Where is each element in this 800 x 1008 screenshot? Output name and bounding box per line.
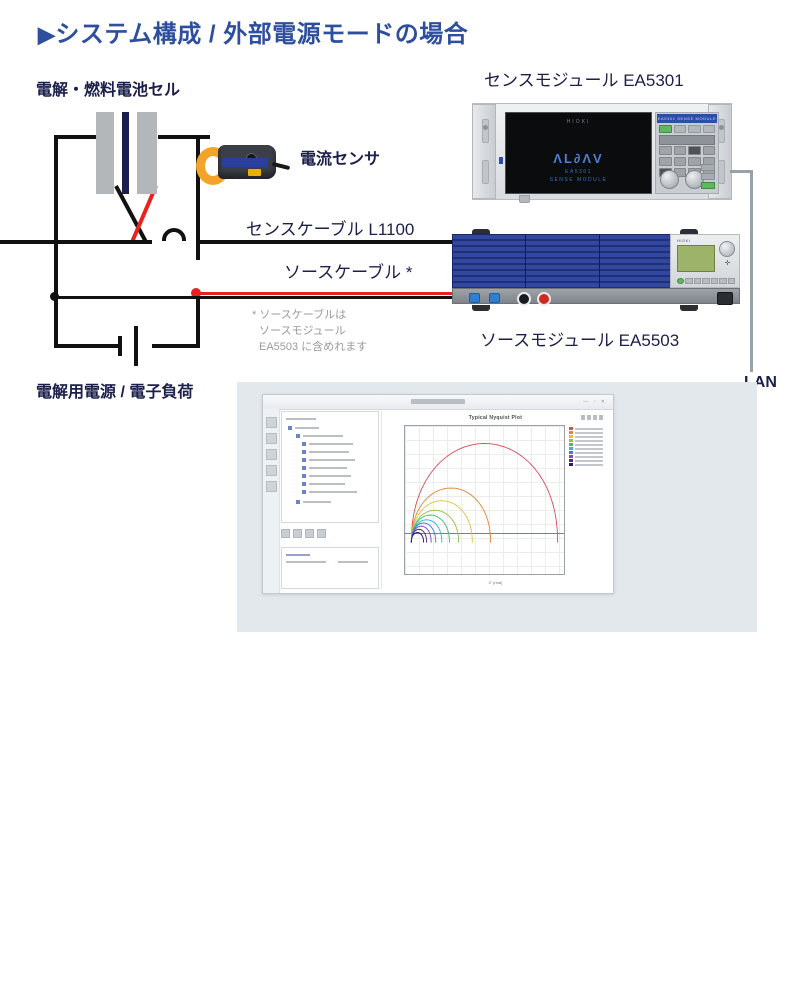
display-logo: ΛL∂ΛV (506, 151, 651, 166)
rack-slot-bottom (482, 160, 489, 184)
ea5503-key[interactable] (711, 278, 718, 284)
legend-swatch (569, 463, 573, 466)
app-tool-rail[interactable] (263, 409, 280, 593)
footnote-line-2: ソースモジュール (252, 324, 367, 340)
display-model: EA5301 (506, 169, 651, 177)
legend-row (569, 431, 603, 434)
tree-row (309, 475, 351, 477)
label-source-module: ソースモジュール EA5503 (480, 326, 679, 351)
footnote-line-3: EA5503 に含めれます (252, 340, 367, 356)
terminal-sense-plus[interactable] (469, 293, 480, 303)
rack-slot-top (482, 119, 489, 143)
legend-swatch (569, 447, 573, 450)
chart-traces (405, 426, 564, 585)
tree-node-icon[interactable] (302, 442, 306, 446)
legend-row (569, 443, 603, 446)
cell-plate-right (137, 112, 157, 194)
legend-label (575, 444, 603, 446)
legend-label (575, 452, 603, 454)
device-ea5503: HIOKI ✛ (452, 234, 740, 306)
soft-key-1[interactable] (659, 125, 672, 133)
grille-divider-1 (525, 235, 526, 289)
wire-batt-left-v (54, 296, 58, 348)
legend-label (575, 464, 603, 466)
soft-key-3[interactable] (688, 125, 701, 133)
wire-sense-right (196, 240, 452, 244)
rail-icon-4[interactable] (266, 465, 277, 476)
wire-sense-left (0, 240, 152, 244)
tree-node-icon[interactable] (302, 490, 306, 494)
tree-row (309, 451, 349, 453)
prop-row (338, 561, 368, 563)
rotary-knob-left[interactable] (660, 170, 679, 189)
legend-swatch (569, 439, 573, 442)
battery-long-plate (134, 326, 138, 366)
label-sense-module: センスモジュール EA5301 (484, 66, 684, 91)
panel-header-text: EA5301 SENSE MODULE (657, 114, 717, 123)
cell-plate-left (96, 112, 114, 194)
tree-row (303, 501, 331, 503)
legend-row (569, 459, 603, 462)
ea5503-key[interactable] (728, 278, 735, 284)
ea5301-display: HIOKI ΛL∂ΛV EA5301 SENSE MODULE (505, 112, 652, 194)
chart-icon-pan[interactable] (587, 415, 591, 420)
legend-row (569, 447, 603, 450)
legend-swatch (569, 435, 573, 438)
chart-icon-config[interactable] (599, 415, 603, 420)
ea5503-dpad-icon[interactable]: ✛ (722, 258, 733, 269)
terminal-sense-minus[interactable] (489, 293, 500, 303)
chart-legend[interactable] (569, 427, 603, 467)
soft-key-4[interactable] (703, 125, 716, 133)
keypad-key[interactable] (659, 146, 672, 155)
side-key-2[interactable] (701, 173, 715, 180)
label-sense-cable: センスケーブル L1100 (246, 215, 414, 240)
legend-row (569, 427, 603, 430)
battery-short-plate (118, 336, 122, 356)
prop-row (286, 561, 326, 563)
side-key-1[interactable] (701, 164, 715, 171)
panel-soft-keys[interactable] (659, 125, 715, 133)
ea5503-foot-left (472, 305, 490, 311)
clamp-body (218, 145, 276, 179)
label-fuel-cell: 電解・燃料電池セル (36, 76, 180, 100)
clamp-knob-icon (246, 153, 257, 164)
nyquist-chart: Typical Nyquist Plot Z' (real) (381, 411, 609, 589)
display-subtitle: EA5301 SENSE MODULE (506, 169, 651, 184)
rack-screw-top-right-icon (719, 125, 724, 130)
tree-node-icon[interactable] (302, 482, 306, 486)
rack-screw-top-icon (483, 125, 488, 130)
cell-membrane (122, 112, 129, 194)
rail-icon-3[interactable] (266, 449, 277, 460)
tree-tool-remove[interactable] (293, 529, 302, 538)
ea5503-control-panel: HIOKI ✛ (670, 234, 740, 288)
chart-plot-area (404, 425, 565, 575)
ea5301-control-panel: EA5301 SENSE MODULE (655, 112, 719, 194)
ea5503-rotary-knob[interactable] (719, 241, 735, 257)
diagram-canvas: ▶システム構成 / 外部電源モードの場合 電解・燃料電池セル 電解用電源 / 電… (0, 0, 800, 640)
ea5503-key[interactable] (719, 278, 726, 284)
chart-title: Typical Nyquist Plot (382, 415, 609, 421)
terminal-output-red[interactable] (537, 292, 551, 306)
tree-row (309, 459, 355, 461)
tree-row (309, 467, 347, 469)
keypad-key[interactable] (688, 157, 701, 166)
app-measurement-tree[interactable] (281, 411, 379, 523)
tree-node-icon[interactable] (288, 426, 292, 430)
app-title-placeholder (411, 399, 465, 404)
label-source-cable: ソースケーブル * (284, 258, 412, 283)
chart-icon-zoom[interactable] (581, 415, 585, 420)
software-panel-backdrop: — ▫ ✕ (237, 382, 757, 632)
clamp-current-sensor (196, 142, 282, 190)
ea5301-front-port[interactable] (499, 157, 503, 164)
page-title: ▶システム構成 / 外部電源モードの場合 (38, 14, 468, 49)
legend-label (575, 440, 603, 442)
side-key-start[interactable] (701, 182, 715, 189)
legend-label (575, 428, 603, 430)
tree-tool-copy[interactable] (305, 529, 314, 538)
page-title-text: システム構成 / 外部電源モードの場合 (55, 21, 468, 48)
legend-row (569, 451, 603, 454)
tree-node-icon[interactable] (302, 474, 306, 478)
wire-batt-left-h (54, 344, 120, 348)
legend-swatch (569, 455, 573, 458)
terminal-output-black[interactable] (517, 292, 531, 306)
rail-icon-5[interactable] (266, 481, 277, 492)
display-module-kind: SENSE MODULE (506, 177, 651, 185)
ea5503-front-grille (452, 234, 672, 290)
footnote-line-1: * ソースケーブルは (252, 308, 367, 324)
tree-node-icon[interactable] (302, 466, 306, 470)
ea5503-key[interactable] (694, 278, 701, 284)
legend-swatch (569, 427, 573, 430)
wire-batt-right-v (196, 296, 200, 348)
ea5503-foot-right (680, 305, 698, 311)
wire-cell-right (158, 135, 210, 139)
legend-label (575, 456, 603, 458)
tree-row (309, 443, 353, 445)
tree-node-icon[interactable] (296, 500, 300, 504)
wire-return-black (54, 296, 456, 299)
label-current-sensor: 電流センサ (300, 145, 380, 169)
tree-row (286, 418, 316, 420)
panel-status-strip (659, 135, 715, 145)
wire-left-bus (54, 135, 58, 300)
tree-row (309, 483, 345, 485)
triangle-bullet-icon: ▶ (38, 22, 55, 47)
ea5503-power-switch[interactable] (717, 292, 733, 305)
chart-icon-save[interactable] (593, 415, 597, 420)
grille-divider-2 (599, 235, 600, 289)
prop-row (286, 554, 310, 556)
app-properties-pane[interactable] (281, 547, 379, 589)
panel-knobs[interactable] (660, 170, 704, 189)
ea5503-terminal-strip (452, 288, 740, 304)
label-power-supply: 電解用電源 / 電子負荷 (36, 378, 193, 402)
legend-swatch (569, 431, 573, 434)
keypad-key[interactable] (703, 146, 716, 155)
ea5301-foot (519, 195, 530, 203)
lan-cable-upper (750, 170, 753, 372)
rail-icon-2[interactable] (266, 433, 277, 444)
tree-node-icon[interactable] (302, 450, 306, 454)
cell-sense-taps (100, 186, 210, 266)
legend-label (575, 460, 603, 462)
ea5503-power-key[interactable] (677, 278, 684, 284)
app-tree-toolbar[interactable] (281, 525, 377, 541)
legend-swatch (569, 459, 573, 462)
lan-cable-elbow (730, 170, 752, 173)
clamp-label-badge (248, 169, 261, 176)
legend-label (575, 448, 603, 450)
legend-swatch (569, 443, 573, 446)
tree-node-icon[interactable] (302, 458, 306, 462)
keypad-key[interactable] (674, 157, 687, 166)
app-titlebar[interactable]: — ▫ ✕ (263, 395, 613, 410)
tree-row (295, 427, 319, 429)
legend-swatch (569, 451, 573, 454)
ea5703-app-window[interactable]: — ▫ ✕ (262, 394, 614, 594)
tree-row (309, 491, 357, 493)
legend-row (569, 435, 603, 438)
keypad-key[interactable] (674, 146, 687, 155)
rack-slot-top-r (718, 119, 725, 143)
ea5503-lcd (677, 245, 715, 272)
ea5503-brand: HIOKI (677, 238, 690, 243)
rack-ear-left (472, 104, 496, 199)
chart-toolbar-icons[interactable] (581, 415, 603, 420)
keypad-key[interactable] (659, 157, 672, 166)
window-controls[interactable]: — ▫ ✕ (583, 399, 607, 405)
tree-row (303, 435, 343, 437)
keypad-key[interactable] (688, 146, 701, 155)
tree-tool-add[interactable] (281, 529, 290, 538)
chart-x-axis-label: Z' (real) (489, 580, 503, 585)
ea5503-key[interactable] (685, 278, 692, 284)
tree-node-icon[interactable] (296, 434, 300, 438)
tree-tool-settings[interactable] (317, 529, 326, 538)
wire-batt-right-h (152, 344, 200, 348)
panel-header: EA5301 SENSE MODULE (657, 114, 717, 123)
rail-icon-1[interactable] (266, 417, 277, 428)
ea5503-key[interactable] (702, 278, 709, 284)
legend-label (575, 436, 603, 438)
panel-side-keys[interactable] (701, 164, 715, 189)
footnote: * ソースケーブルは ソースモジュール EA5503 に含めれます (252, 308, 367, 356)
display-brand: HIOKI (506, 119, 651, 125)
wire-source-red (196, 292, 456, 295)
legend-row (569, 463, 603, 466)
legend-label (575, 432, 603, 434)
rack-slot-bottom-r (718, 160, 725, 184)
legend-row (569, 455, 603, 458)
soft-key-2[interactable] (674, 125, 687, 133)
ea5503-keypad[interactable] (677, 278, 735, 284)
legend-row (569, 439, 603, 442)
device-ea5301: HIOKI ΛL∂ΛV EA5301 SENSE MODULE EA5301 S… (472, 103, 732, 200)
